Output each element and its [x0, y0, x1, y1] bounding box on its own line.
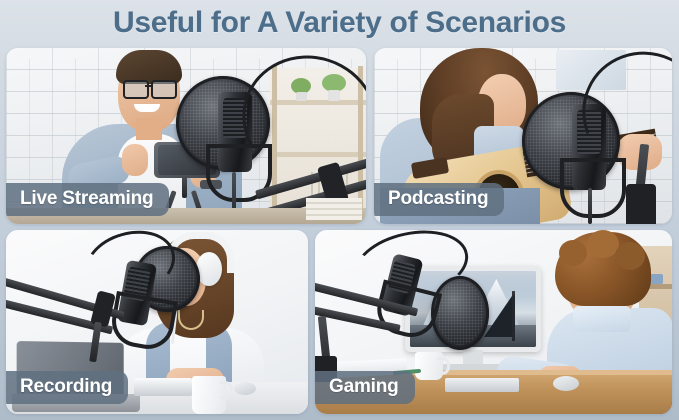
panel-label-recording: Recording — [6, 371, 128, 404]
scenario-panel-grid: Live Streaming — [0, 0, 679, 420]
scenario-panel-live-streaming[interactable]: Live Streaming — [6, 48, 366, 224]
hair-curl-3 — [615, 242, 645, 270]
panel-label-live-streaming: Live Streaming — [6, 183, 169, 216]
mouse — [553, 376, 579, 391]
mic-cable — [588, 188, 592, 224]
scenario-panel-podcasting[interactable]: Podcasting — [374, 48, 672, 224]
scenario-panel-gaming[interactable]: Gaming — [315, 230, 672, 414]
keyboard — [445, 378, 519, 392]
hair-curl-1 — [559, 240, 587, 266]
scenario-panel-recording[interactable]: Recording — [6, 230, 308, 414]
glasses-right-lens — [151, 80, 177, 99]
panel-label-podcasting: Podcasting — [374, 183, 504, 216]
person-collar — [573, 306, 631, 332]
person-neck — [136, 118, 162, 140]
mouse — [234, 382, 256, 395]
glasses-bridge — [145, 85, 151, 87]
glasses-left-lens — [123, 80, 149, 99]
game-mast — [512, 291, 515, 341]
coffee-mug — [192, 376, 226, 414]
scenarios-promo-page: Useful for A Variety of Scenarios — [0, 0, 679, 420]
boom-arm-clamp — [626, 184, 656, 224]
panel-label-gaming: Gaming — [315, 371, 415, 404]
person-smile — [134, 104, 160, 112]
notebook — [134, 378, 192, 396]
person-hair — [116, 50, 182, 84]
person-left-hand — [122, 144, 148, 176]
books-on-desk — [306, 198, 362, 220]
tripod-center-post — [182, 176, 187, 198]
desk-mug — [415, 352, 443, 380]
